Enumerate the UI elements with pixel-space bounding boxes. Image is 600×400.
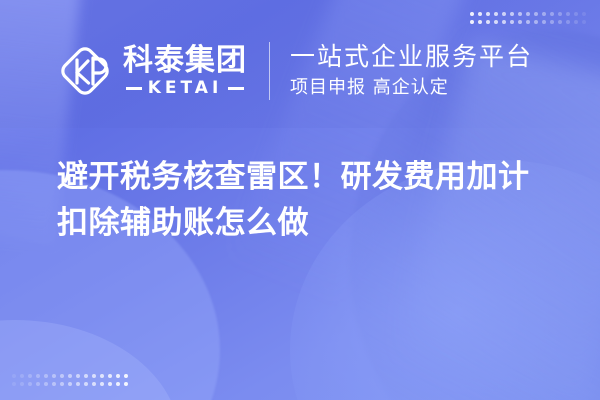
tagline-main: 一站式企业服务平台 [290, 42, 533, 72]
dot [28, 374, 32, 378]
logo-wordmark: 科泰集团 KETAI [123, 45, 247, 97]
dot [92, 382, 96, 386]
dot [494, 20, 498, 24]
dot [84, 374, 88, 378]
dot [526, 12, 530, 16]
promo-banner: 科泰集团 KETAI 一站式企业服务平台 项目申报 高企认定 避开税务核查雷区！… [0, 0, 600, 400]
dot [124, 374, 128, 378]
dot [478, 12, 482, 16]
dot [44, 374, 48, 378]
dot [478, 20, 482, 24]
dot [470, 20, 474, 24]
dot [502, 12, 506, 16]
logo-dash-right-icon [228, 87, 244, 90]
dot [566, 12, 570, 16]
dot [542, 20, 546, 24]
dot [558, 12, 562, 16]
dot-grid-top-right [470, 12, 586, 24]
banner-header: 科泰集团 KETAI 一站式企业服务平台 项目申报 高企认定 [57, 42, 533, 100]
dot [28, 382, 32, 386]
dot [534, 20, 538, 24]
tagline-block: 一站式企业服务平台 项目申报 高企认定 [290, 42, 533, 100]
dot [60, 382, 64, 386]
tagline-sub: 项目申报 高企认定 [290, 76, 533, 100]
dot-grid-row [470, 12, 586, 16]
dot-grid-row [12, 374, 128, 378]
dot [582, 12, 586, 16]
dot [20, 374, 24, 378]
dot [550, 12, 554, 16]
dot [52, 374, 56, 378]
dot [494, 12, 498, 16]
dot-grid-bottom-left [12, 374, 128, 386]
dot [52, 382, 56, 386]
dot [574, 12, 578, 16]
dot [486, 20, 490, 24]
dot [486, 12, 490, 16]
header-divider [269, 42, 270, 100]
dot [470, 12, 474, 16]
dot [92, 374, 96, 378]
dot [12, 382, 16, 386]
dot [124, 382, 128, 386]
logo-name-en: KETAI [148, 80, 223, 97]
logo-name-cn: 科泰集团 [123, 45, 247, 77]
dot [526, 20, 530, 24]
logo-dash-left-icon [126, 87, 142, 90]
dot [518, 20, 522, 24]
dot [100, 374, 104, 378]
dot [550, 20, 554, 24]
dot [116, 374, 120, 378]
dot [534, 12, 538, 16]
dot [510, 20, 514, 24]
dot [44, 382, 48, 386]
dot [36, 382, 40, 386]
dot [582, 20, 586, 24]
logo-en-row: KETAI [126, 80, 245, 97]
dot [566, 20, 570, 24]
dot [542, 12, 546, 16]
dot [76, 382, 80, 386]
ketai-diamond-kp-logo-icon [57, 43, 113, 99]
dot [68, 374, 72, 378]
dot [108, 374, 112, 378]
dot [36, 374, 40, 378]
dot [558, 20, 562, 24]
dot-grid-row [12, 382, 128, 386]
dot [60, 374, 64, 378]
dot [68, 382, 72, 386]
dot [108, 382, 112, 386]
dot [502, 20, 506, 24]
dot [84, 382, 88, 386]
dot [510, 12, 514, 16]
dot [100, 382, 104, 386]
dot [518, 12, 522, 16]
left-ellipse-secondary-shape [0, 320, 180, 400]
dot [574, 20, 578, 24]
dot-grid-row [470, 20, 586, 24]
dot [76, 374, 80, 378]
banner-headline: 避开税务核查雷区！研发费用加计扣除辅助账怎么做 [57, 155, 557, 247]
dot [12, 374, 16, 378]
dot [20, 382, 24, 386]
dot [116, 382, 120, 386]
